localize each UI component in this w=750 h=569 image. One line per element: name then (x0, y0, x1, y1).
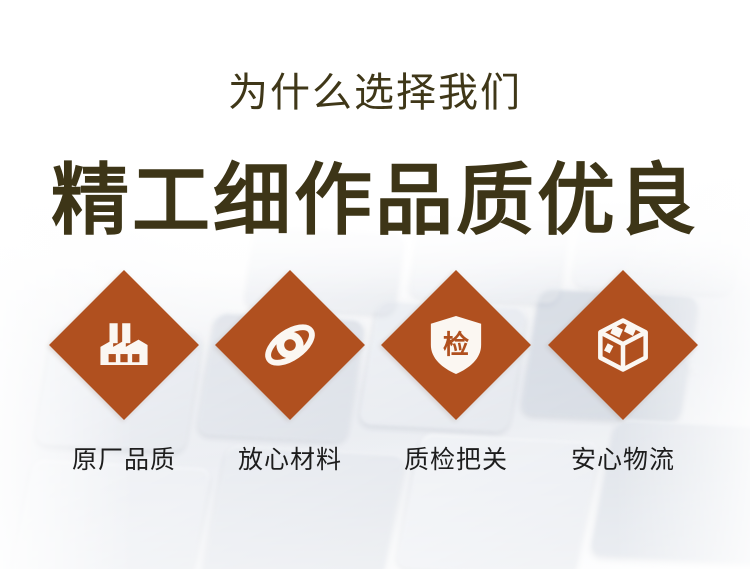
feature-item-material[interactable]: 放心材料 (207, 270, 373, 476)
feature-item-logistics[interactable]: 安心物流 (540, 270, 706, 476)
feature-item-inspection[interactable]: 检 质检把关 (373, 270, 539, 476)
factory-icon (49, 270, 199, 420)
shield-inspection-icon: 检 (381, 270, 531, 420)
shield-character: 检 (443, 330, 469, 360)
diamond-tile (215, 270, 365, 420)
feature-label: 质检把关 (373, 444, 539, 476)
feature-list: 原厂品质 放心材料 (0, 270, 750, 500)
diamond-tile: 检 (381, 270, 531, 420)
atom-icon (215, 270, 365, 420)
feature-item-factory[interactable]: 原厂品质 (41, 270, 207, 476)
feature-label: 原厂品质 (41, 444, 207, 476)
why-choose-us-banner: enter 为什么选择我们 精工细作品质优良 (0, 0, 750, 569)
diamond-tile (49, 270, 199, 420)
feature-label: 安心物流 (540, 444, 706, 476)
banner-subtitle: 为什么选择我们 (0, 68, 750, 118)
package-box-icon (548, 270, 698, 420)
feature-label: 放心材料 (207, 444, 373, 476)
diamond-tile (548, 270, 698, 420)
banner-title: 精工细作品质优良 (0, 152, 750, 248)
